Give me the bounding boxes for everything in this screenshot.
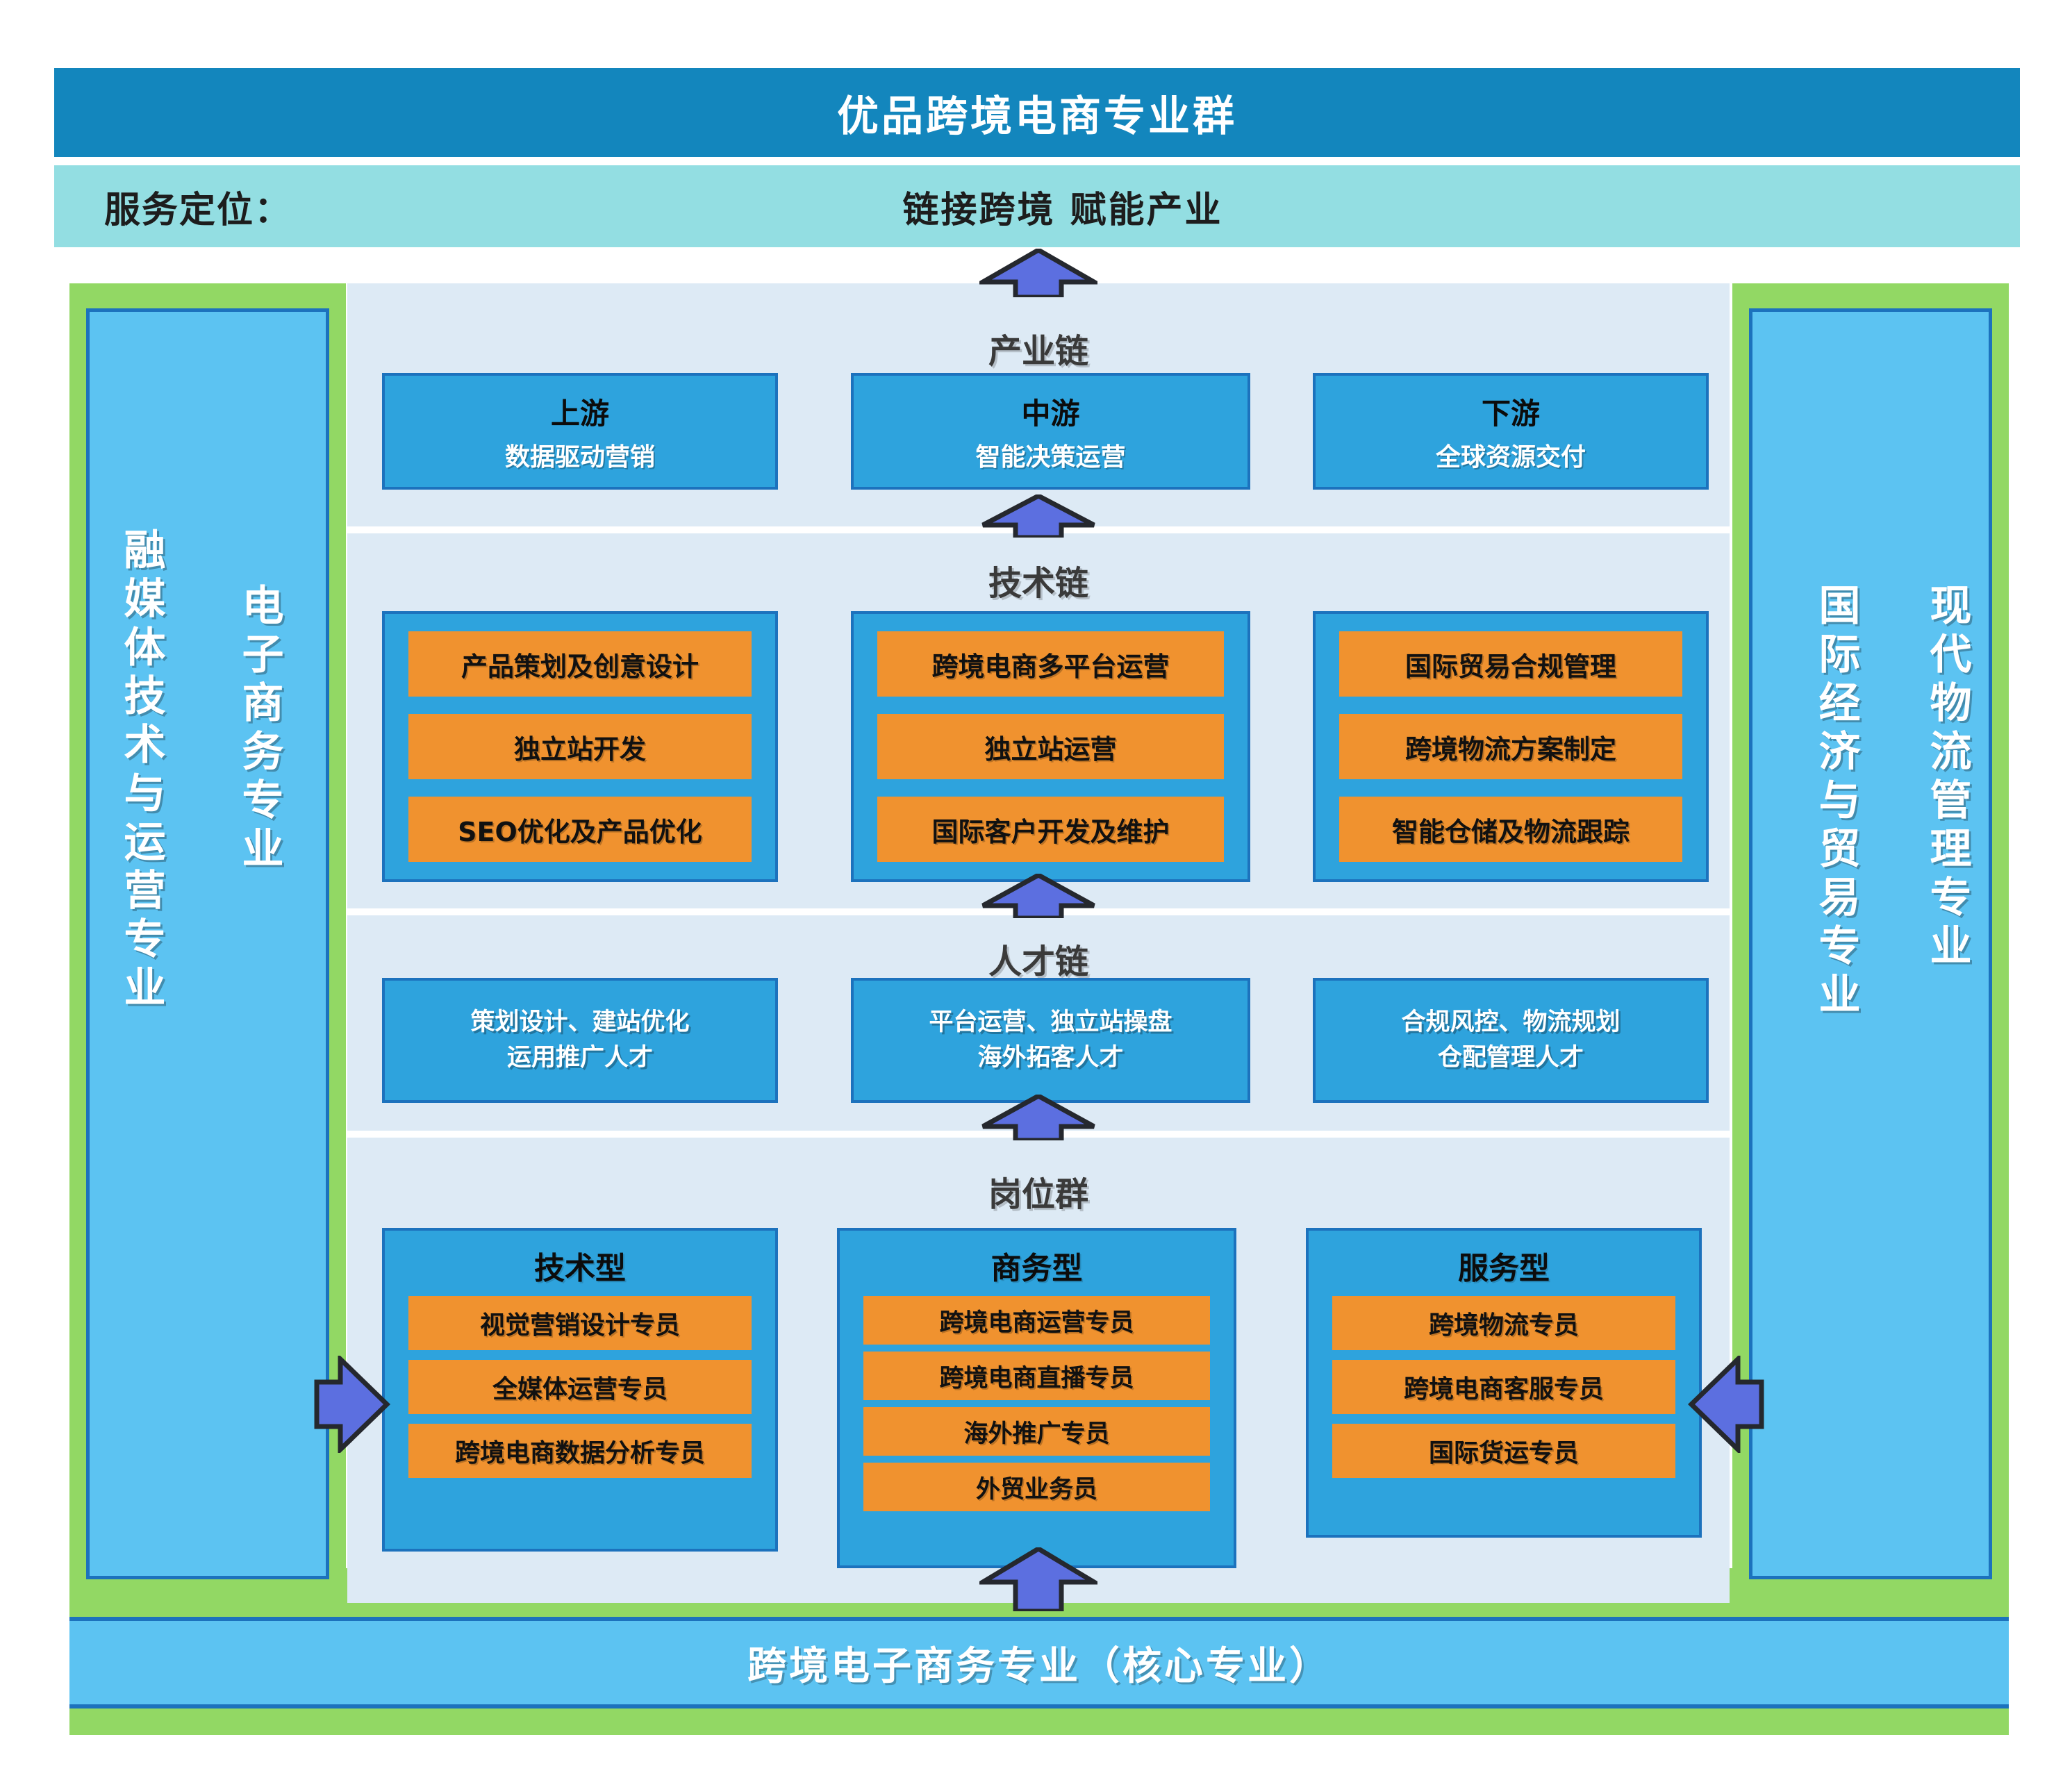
job-column-business[interactable]: 商务型 跨境电商运营专员 跨境电商直播专员 海外推广专员 外贸业务员 xyxy=(837,1228,1236,1568)
arrow-left-into-jobs-icon xyxy=(1688,1356,1764,1453)
tech-item[interactable]: 产品策划及创意设计 xyxy=(408,631,752,697)
tech-item[interactable]: 国际贸易合规管理 xyxy=(1339,631,1683,697)
talent-line: 合规风控、物流规划 xyxy=(1401,1005,1620,1040)
arrow-up-jobs-icon xyxy=(979,1547,1097,1611)
job-item[interactable]: 外贸业务员 xyxy=(863,1463,1210,1511)
industry-upstream-box[interactable]: 上游 数据驱动营销 xyxy=(382,373,778,490)
industry-upstream-heading: 上游 xyxy=(551,390,609,433)
industry-midstream-heading: 中游 xyxy=(1021,390,1079,433)
service-positioning-label: 服务定位： xyxy=(104,165,292,247)
tech-item[interactable]: 独立站运营 xyxy=(877,714,1224,779)
industry-downstream-subtitle: 全球资源交付 xyxy=(1436,437,1586,473)
talent-line: 平台运营、独立站操盘 xyxy=(929,1005,1172,1040)
talent-box-1[interactable]: 策划设计、建站优化 运用推广人才 xyxy=(382,978,778,1103)
job-item[interactable]: 跨境物流专员 xyxy=(1332,1296,1676,1350)
job-cluster-title: 岗位群 xyxy=(347,1167,1730,1215)
arrow-up-technology-icon xyxy=(979,874,1097,918)
job-item[interactable]: 视觉营销设计专员 xyxy=(408,1296,752,1350)
industry-chain-title: 产业链 xyxy=(347,324,1730,372)
talent-box-2[interactable]: 平台运营、独立站操盘 海外拓客人才 xyxy=(851,978,1250,1103)
tech-item[interactable]: SEO优化及产品优化 xyxy=(408,797,752,862)
page-title: 优品跨境电商专业群 xyxy=(54,68,2020,157)
arrow-up-talent-icon xyxy=(979,1095,1097,1140)
job-item[interactable]: 跨境电商客服专员 xyxy=(1332,1360,1676,1414)
job-column-heading: 商务型 xyxy=(991,1243,1083,1288)
tech-item[interactable]: 智能仓储及物流跟踪 xyxy=(1339,797,1683,862)
job-column-service[interactable]: 服务型 跨境物流专员 跨境电商客服专员 国际货运专员 xyxy=(1306,1228,1702,1538)
talent-line: 仓配管理人才 xyxy=(1438,1040,1584,1076)
tech-item[interactable]: 国际客户开发及维护 xyxy=(877,797,1224,862)
tech-chain-column-3[interactable]: 国际贸易合规管理 跨境物流方案制定 智能仓储及物流跟踪 xyxy=(1313,611,1709,882)
talent-chain-title: 人才链 xyxy=(347,934,1730,983)
industry-upstream-subtitle: 数据驱动营销 xyxy=(505,437,655,473)
industry-midstream-box[interactable]: 中游 智能决策运营 xyxy=(851,373,1250,490)
talent-line: 海外拓客人才 xyxy=(977,1040,1123,1076)
job-column-technical[interactable]: 技术型 视觉营销设计专员 全媒体运营专员 跨境电商数据分析专员 xyxy=(382,1228,778,1552)
job-item[interactable]: 跨境电商运营专员 xyxy=(863,1296,1210,1345)
sidebar-major-ecommerce[interactable]: 电子商务专业 xyxy=(229,583,290,875)
industry-downstream-box[interactable]: 下游 全球资源交付 xyxy=(1313,373,1709,490)
arrow-up-to-service-icon xyxy=(979,249,1097,297)
job-column-heading: 服务型 xyxy=(1458,1243,1550,1288)
service-positioning-value: 链接跨境 赋能产业 xyxy=(785,165,1341,247)
technology-chain-title: 技术链 xyxy=(347,556,1730,604)
talent-box-3[interactable]: 合规风控、物流规划 仓配管理人才 xyxy=(1313,978,1709,1103)
core-major-bar[interactable]: 跨境电子商务专业（核心专业） xyxy=(69,1617,2009,1708)
industry-downstream-heading: 下游 xyxy=(1482,390,1540,433)
diagram-canvas: 优品跨境电商专业群 服务定位： 链接跨境 赋能产业 融媒体技术与运营专业 电子商… xyxy=(0,0,2072,1771)
arrow-up-industry-icon xyxy=(979,494,1097,538)
sidebar-major-international-trade[interactable]: 国际经济与贸易专业 xyxy=(1806,583,1866,1021)
industry-midstream-subtitle: 智能决策运营 xyxy=(975,437,1125,473)
job-item[interactable]: 全媒体运营专员 xyxy=(408,1360,752,1414)
tech-item[interactable]: 跨境物流方案制定 xyxy=(1339,714,1683,779)
job-item[interactable]: 跨境电商数据分析专员 xyxy=(408,1424,752,1478)
job-item[interactable]: 国际货运专员 xyxy=(1332,1424,1676,1478)
job-item[interactable]: 跨境电商直播专员 xyxy=(863,1352,1210,1400)
job-column-heading: 技术型 xyxy=(534,1243,626,1288)
job-item[interactable]: 海外推广专员 xyxy=(863,1407,1210,1456)
tech-chain-column-1[interactable]: 产品策划及创意设计 独立站开发 SEO优化及产品优化 xyxy=(382,611,778,882)
tech-item[interactable]: 跨境电商多平台运营 xyxy=(877,631,1224,697)
sidebar-major-rongmeiti[interactable]: 融媒体技术与运营专业 xyxy=(111,528,172,1014)
talent-line: 运用推广人才 xyxy=(507,1040,653,1076)
arrow-right-into-jobs-icon xyxy=(314,1356,390,1453)
sidebar-major-logistics[interactable]: 现代物流管理专业 xyxy=(1917,583,1978,972)
tech-chain-column-2[interactable]: 跨境电商多平台运营 独立站运营 国际客户开发及维护 xyxy=(851,611,1250,882)
talent-line: 策划设计、建站优化 xyxy=(470,1005,689,1040)
tech-item[interactable]: 独立站开发 xyxy=(408,714,752,779)
